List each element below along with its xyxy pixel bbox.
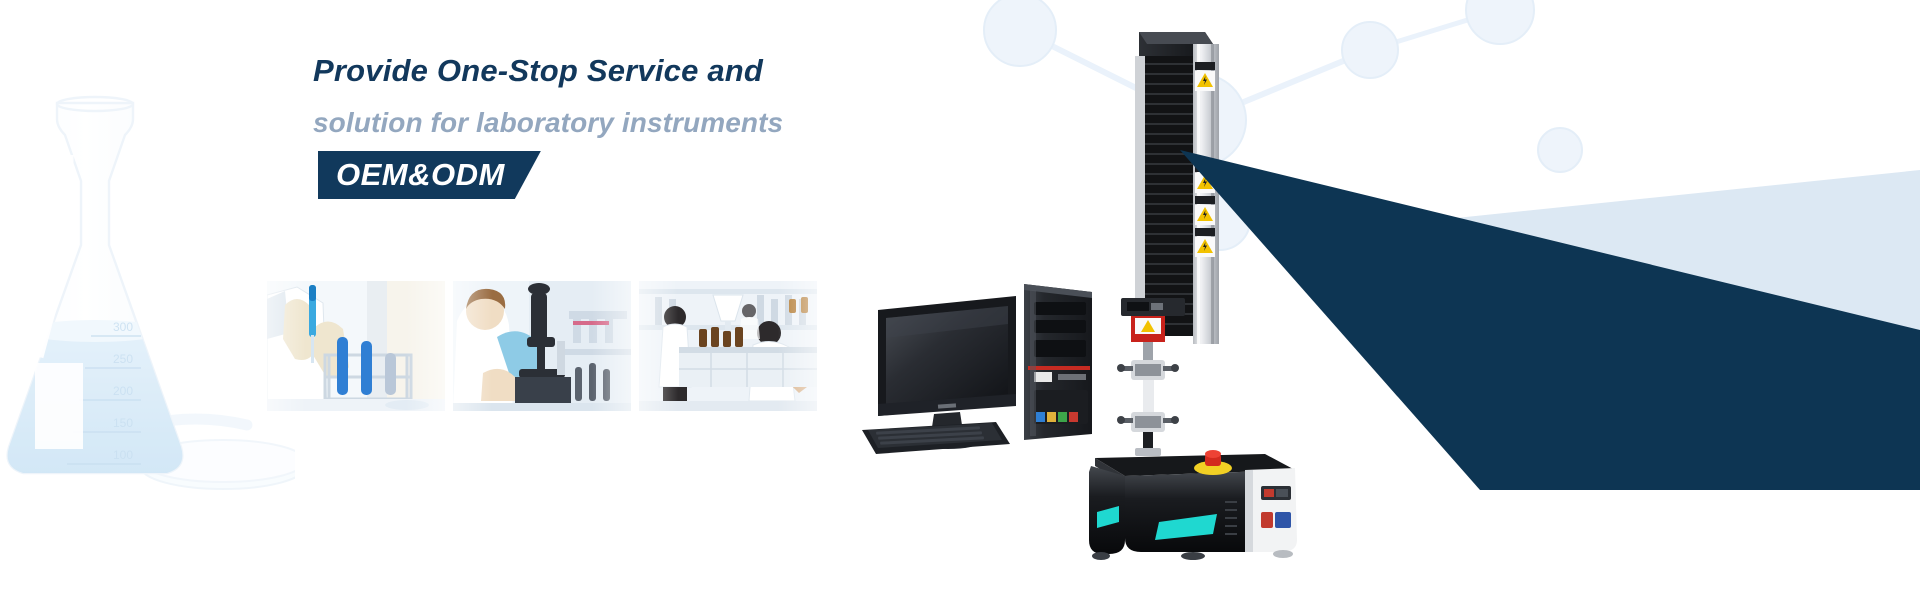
photo-strip <box>267 281 820 411</box>
flask-graduation-200: 200 <box>113 384 133 398</box>
flask-graduation-250: 250 <box>113 352 133 366</box>
headline-secondary: solution for laboratory instruments <box>313 109 1073 137</box>
dark-arrow-shape <box>1180 140 1920 490</box>
headline-block: Provide One-Stop Service and solution fo… <box>313 55 1073 199</box>
oem-odm-badge-label: OEM&ODM <box>336 151 505 199</box>
load-cell <box>1131 316 1165 360</box>
promo-banner: 300 250 200 150 100 Provide One-Stop Ser… <box>0 0 1920 597</box>
photo-pipetting-test-tubes <box>267 281 445 411</box>
oem-odm-badge-wrapper: OEM&ODM <box>318 151 1073 199</box>
photo-microscope-researcher <box>453 281 631 411</box>
desktop-computer-graphic <box>856 278 1116 458</box>
oem-odm-badge: OEM&ODM <box>318 151 541 199</box>
flask-graduation-100: 100 <box>113 448 133 462</box>
photo-laboratory-bench <box>639 281 817 411</box>
pc-tower <box>1024 284 1092 440</box>
keyboard <box>862 422 1010 454</box>
headline-primary: Provide One-Stop Service and <box>313 55 1073 86</box>
erlenmeyer-flask-graphic: 300 250 200 150 100 <box>0 95 295 515</box>
flask-graduation-300: 300 <box>113 320 133 334</box>
flask-graduation-150: 150 <box>113 416 133 430</box>
crosshead <box>1121 298 1185 316</box>
